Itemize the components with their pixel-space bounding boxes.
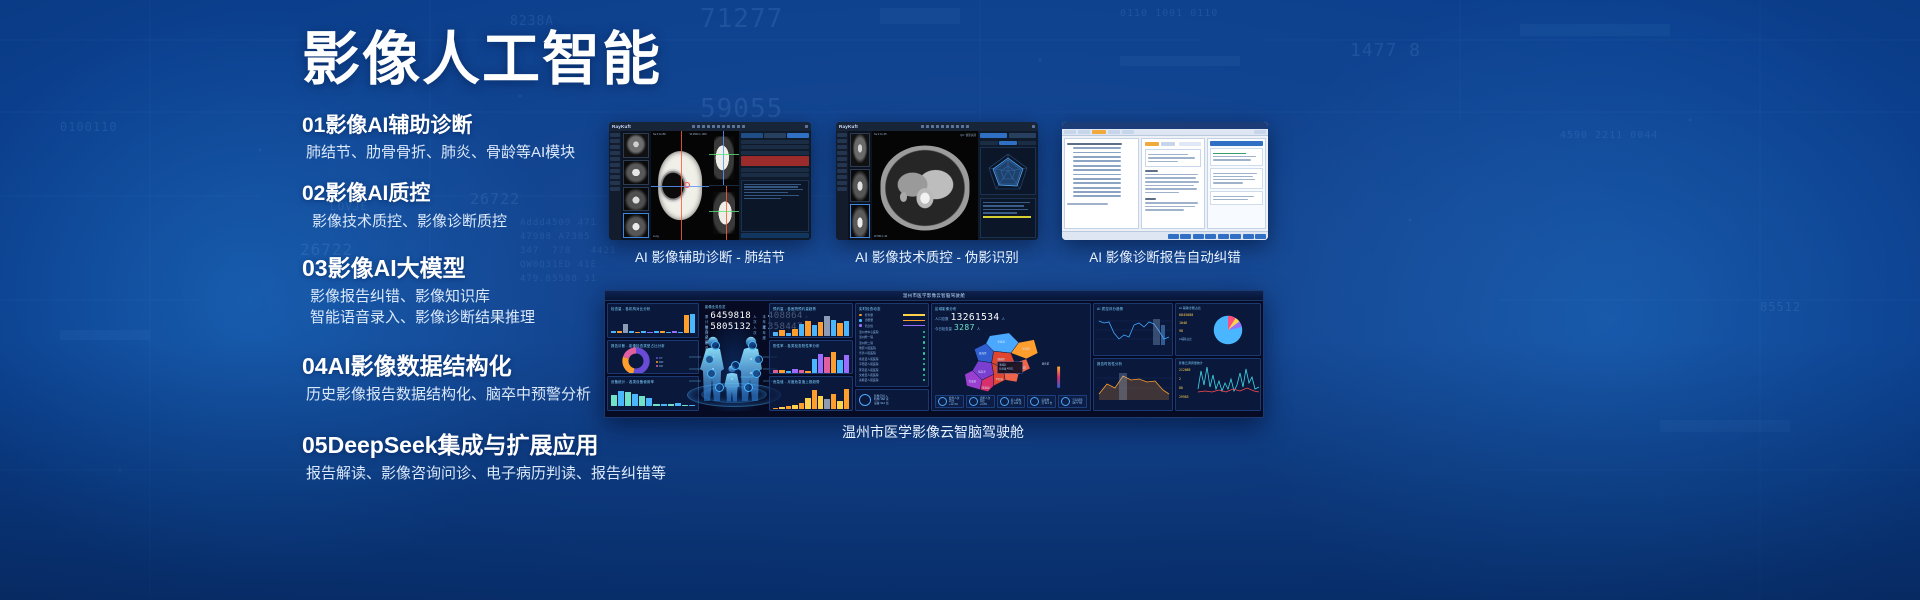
map-footer-buttons[interactable]: 检查人次同比 +12.4% 诊断人次同比 +9.8% 接入机构共 186 家 设… [935, 395, 1087, 408]
app-logo: RayKuft [839, 124, 858, 129]
app-titlebar [1062, 122, 1268, 129]
toolbar-icon[interactable] [697, 125, 700, 128]
svg-text:洞头区: 洞头区 [1042, 362, 1050, 366]
series-thumbnail[interactable] [850, 169, 870, 203]
card-title: AI 辅助诊断占比 [1179, 306, 1199, 310]
metric-value: 6459818 [710, 311, 751, 321]
tree-node[interactable] [1073, 195, 1121, 197]
svg-text:瑞安市: 瑞安市 [978, 369, 986, 373]
dashboard-center-overview[interactable]: 影像业务总览 累计检查总量 6459818 人次 本年度 408864 人次 累… [701, 303, 767, 411]
dashboard-card-cloud-access[interactable]: 影像云调阅量统计 2120BE 2 88 29983 [1175, 358, 1261, 411]
map-color-legend [1057, 367, 1060, 388]
series-thumbnail[interactable] [623, 160, 649, 185]
tool-icon[interactable] [837, 133, 847, 137]
toolbar-tabs[interactable] [1062, 129, 1268, 136]
tree-node[interactable] [1073, 191, 1121, 193]
tool-icon[interactable] [837, 163, 847, 167]
svg-text:平阳县: 平阳县 [996, 377, 1004, 381]
organ-node-icon[interactable] [748, 341, 757, 350]
toolbar-icon[interactable] [692, 125, 695, 128]
tool-icon[interactable] [610, 139, 620, 143]
bar-chart [773, 351, 849, 373]
card-title: 实时检查动态 [859, 306, 925, 311]
ct-secondary-views[interactable] [709, 131, 739, 240]
editor-tab-active[interactable] [1145, 142, 1159, 146]
metric-label: 人口总数 [935, 316, 949, 321]
tool-icon[interactable] [610, 157, 620, 161]
line-chart [1197, 361, 1261, 395]
patient-info-table [1145, 149, 1201, 167]
dashboard-card-region-map[interactable]: 区域影像分布 人口总数 13261534 人 今日检查量 3287 人 [931, 303, 1091, 411]
screenshot-imaging-cloud-cockpit[interactable]: 温州市医学影像云智脑驾驶舱 检查量 - 各机构对比分析 报告诊断 - 影像检查类… [604, 290, 1264, 418]
organ-node-icon[interactable] [707, 369, 716, 378]
action-bar[interactable] [1062, 231, 1268, 240]
action-button[interactable] [1193, 234, 1204, 239]
organ-node-icon[interactable] [705, 355, 714, 364]
tree-node[interactable] [1073, 169, 1121, 171]
screenshot-ai-technical-qc[interactable]: RayKuft Se:2 Im:45 QC: 伪影识别 W:350 L:40 [836, 122, 1038, 240]
card-title: AI 质控评分趋势 [1097, 306, 1169, 311]
metric-unit: 人 [1002, 316, 1005, 321]
bar-chart [773, 314, 849, 336]
tool-icon[interactable] [837, 169, 847, 173]
toolbar-icon[interactable] [717, 125, 720, 128]
tree-node[interactable] [1073, 147, 1121, 149]
emr-columns [1062, 136, 1268, 231]
submit-button[interactable] [741, 233, 809, 238]
dashboard-card-ai-ratio[interactable]: AI 辅助诊断占比 6845080 1046 98 AI辅助占比 [1175, 303, 1261, 356]
action-button[interactable] [1180, 234, 1191, 239]
report-text-area[interactable] [741, 180, 809, 232]
finding-row-critical[interactable] [741, 156, 809, 166]
ct-axial-view[interactable]: Se:3 Im:88 W:1500 L:-600 Lung [651, 131, 709, 240]
viewer-body: Se:3 Im:88 W:1500 L:-600 Lung [609, 131, 811, 240]
dashboard-card-qc-score-trend[interactable]: AI 质控评分趋势 [1093, 303, 1173, 356]
tool-icon[interactable] [610, 175, 620, 179]
filter-chip[interactable] [1018, 141, 1036, 145]
close-icon[interactable] [805, 125, 808, 128]
hospital-icon [859, 394, 871, 406]
report-editor-panel[interactable] [1141, 138, 1205, 229]
ai-suggestion-card[interactable] [1210, 191, 1263, 206]
ai-findings-panel[interactable] [739, 131, 811, 240]
footer-button[interactable]: 云存储量1877 TB [1058, 395, 1087, 408]
footer-button-sub: 共 912 台 [1041, 402, 1052, 405]
image-viewport-grid[interactable]: Se:3 Im:88 W:1500 L:-600 Lung [651, 131, 811, 240]
toolbar-icon[interactable] [712, 125, 715, 128]
toolbar-icon[interactable] [926, 125, 929, 128]
dashboard-card-summary-badge[interactable]: 影像云接入机构 186 家设备 912 台 [855, 389, 929, 411]
panel-tab[interactable] [741, 133, 763, 138]
editor-action[interactable] [1179, 142, 1201, 146]
tab-item[interactable] [1254, 130, 1266, 134]
dashboard-column-list: 实时检查动态 检查量 诊断量 危急值 温州市中心医院 温州附一院 温州附二院 瑞… [855, 303, 929, 411]
finding-row[interactable] [741, 168, 809, 172]
organ-node-icon[interactable] [754, 355, 763, 364]
action-button[interactable] [1205, 234, 1216, 239]
bar-chart [773, 387, 849, 409]
tool-icon[interactable] [610, 187, 620, 191]
tree-node[interactable] [1073, 187, 1121, 189]
tool-rail[interactable] [836, 131, 848, 240]
organ-node-icon[interactable] [711, 341, 720, 350]
report-tree-panel[interactable] [1064, 138, 1139, 229]
tree-node[interactable] [1073, 160, 1121, 162]
metric-population: 人口总数 13261534 人 [935, 312, 1087, 323]
toolbar-icon[interactable] [961, 125, 964, 128]
filter-chip[interactable] [980, 141, 998, 145]
donut-chart [619, 346, 653, 375]
tab-item-active[interactable] [1092, 130, 1106, 134]
svg-text:苍南县: 苍南县 [982, 386, 990, 390]
screenshot-2-caption: AI 影像技术质控 - 伪影识别 [836, 246, 1038, 266]
card-title: 影像云调阅量统计 [1179, 361, 1197, 365]
toolbar-icon[interactable] [956, 125, 959, 128]
footer-button-sub: 同比 +9.8% [980, 400, 992, 406]
tool-rail[interactable] [609, 131, 621, 240]
dashboard-column-lines: AI 质控评分趋势 报告时效性分析 [1093, 303, 1173, 411]
svg-text:文成县: 文成县 [969, 379, 977, 383]
toolbar-icon[interactable] [732, 125, 735, 128]
toolbar-icon[interactable] [951, 125, 954, 128]
card-title: 危急值 - 月度危急值上报趋势 [773, 379, 849, 384]
ct-axial-view[interactable]: Se:2 Im:45 QC: 伪影识别 W:350 L:40 [872, 131, 978, 240]
area-chart [1097, 368, 1171, 402]
action-button[interactable] [1255, 234, 1266, 239]
qc-radar-chart [980, 147, 1036, 195]
stat-icon [938, 397, 947, 406]
panel-tab-active[interactable] [787, 133, 809, 138]
tool-icon[interactable] [837, 151, 847, 155]
bar-chart [611, 313, 695, 333]
pie-chart [1208, 311, 1248, 349]
toolbar-icon[interactable] [941, 125, 944, 128]
metric-value: 5805132 [710, 322, 751, 332]
tool-icon[interactable] [610, 169, 620, 173]
dashboard-caption: 温州市医学影像云智脑驾驶舱 [604, 422, 1262, 442]
close-icon[interactable] [1032, 125, 1035, 128]
organ-node-icon[interactable] [731, 361, 740, 370]
app-titlebar: RayKuft [836, 122, 1038, 131]
tree-node[interactable] [1073, 174, 1121, 176]
organ-node-icon[interactable] [752, 369, 761, 378]
organ-node-icon[interactable] [744, 383, 753, 392]
filter-chip-active[interactable] [999, 141, 1017, 145]
screenshot-1-caption: AI 影像辅助诊断 - 肺结节 [609, 246, 811, 266]
ai-panel-header [1210, 141, 1263, 146]
series-thumbnail-list[interactable] [848, 131, 872, 240]
ct-sagittal-view[interactable] [709, 186, 739, 240]
tree-node[interactable] [1073, 152, 1121, 154]
panel-tab[interactable] [764, 133, 786, 138]
dashboard-card-report-timeliness[interactable]: 报告时效性分析 [1093, 358, 1173, 411]
toolbar-icon[interactable] [946, 125, 949, 128]
line-chart [1097, 313, 1171, 347]
editor-tab[interactable] [1161, 142, 1175, 146]
action-button[interactable] [1243, 234, 1254, 239]
tool-icon[interactable] [837, 175, 847, 179]
screenshot-ai-assisted-diagnosis[interactable]: RayKuft [609, 122, 811, 240]
tool-icon[interactable] [837, 157, 847, 161]
card-title: 区域影像分布 [935, 306, 1087, 311]
stat-icon [1061, 397, 1070, 406]
card-title: 预约量 - 各医院预约量趋势 [773, 306, 849, 311]
stat-icon [1030, 397, 1039, 406]
finding-row[interactable] [741, 173, 809, 177]
svg-text:乐清市: 乐清市 [1023, 346, 1031, 350]
ct-coronal-view[interactable] [709, 131, 739, 186]
page-title: 影像人工智能 [302, 30, 702, 91]
series-thumbnail[interactable] [850, 133, 870, 167]
footer-button-sub: 同比 +12.4% [949, 400, 961, 406]
dashboard-card-positive-rate[interactable]: 阳性率 - 各类检查阳性率分析 [769, 340, 853, 375]
svg-text:鹿城区: 鹿城区 [997, 357, 1005, 361]
card-title: 检查量 - 各机构对比分析 [611, 306, 695, 311]
series-thumbnail[interactable] [623, 133, 649, 158]
footer-button[interactable]: 设备数共 912 台 [1027, 395, 1056, 408]
series-thumbnail-selected[interactable] [850, 204, 870, 238]
tree-node[interactable] [1073, 182, 1121, 184]
svg-text:瓯海区: 瓯海区 [979, 351, 987, 355]
footer-button-sub: 共 186 家 [1011, 402, 1022, 405]
legend-block: 检查量 诊断量 危急值 [859, 313, 925, 328]
qc-score-panel[interactable] [978, 131, 1038, 240]
stat-icon [1000, 397, 1009, 406]
tool-icon[interactable] [610, 133, 620, 137]
card-title: 阳性率 - 各类检查阳性率分析 [773, 343, 849, 348]
panel-tab[interactable] [1009, 133, 1036, 138]
metric-value: 13261534 [951, 312, 1000, 323]
tree-node[interactable] [1073, 156, 1121, 158]
screenshot-3-caption: AI 影像诊断报告自动纠错 [1062, 246, 1268, 266]
tool-icon[interactable] [837, 145, 847, 149]
ai-suggestion-card[interactable] [1210, 148, 1263, 166]
tool-icon[interactable] [837, 181, 847, 185]
donut-legend: CT MR DR [656, 356, 663, 368]
organ-node-icon[interactable] [715, 383, 724, 392]
card-title: 报告诊断 - 影像检查类型占比分析 [611, 343, 665, 348]
footer-button[interactable]: 接入机构共 186 家 [997, 395, 1026, 408]
toolbar-icon[interactable] [921, 125, 924, 128]
tree-node[interactable] [1073, 165, 1121, 167]
feature-05-desc: 报告解读、影像咨询问诊、电子病历判读、报告纠错等 [302, 463, 702, 484]
action-button[interactable] [1218, 234, 1229, 239]
tab-item[interactable] [1064, 130, 1076, 134]
ai-suggestion-card[interactable] [1210, 168, 1263, 189]
qc-findings-list[interactable] [980, 198, 1036, 239]
stat-icon [969, 397, 978, 406]
radar-svg [982, 149, 1034, 193]
toolbar-icon[interactable] [702, 125, 705, 128]
tool-icon[interactable] [610, 145, 620, 149]
toolbar-icon[interactable] [936, 125, 939, 128]
tool-icon[interactable] [837, 139, 847, 143]
dashboard-header-title: 温州市医学影像云智脑驾驶舱 [605, 291, 1263, 301]
tab-item[interactable] [1108, 130, 1120, 134]
svg-text:永嘉县: 永嘉县 [997, 340, 1005, 344]
region-map-svg[interactable]: 永嘉县乐清市 瓯海区鹿城区 龙湾区瑞安市 平阳县文成县 苍南县洞头区 鹿城区检查… [935, 330, 1085, 395]
toolbar-icon[interactable] [966, 125, 969, 128]
toolbar-icon[interactable] [931, 125, 934, 128]
tree-node[interactable] [1073, 178, 1121, 180]
dashboard-card-appointments[interactable]: 预约量 - 各医院预约量趋势 [769, 303, 853, 338]
dashboard-card-critical-values[interactable]: 危急值 - 月度危急值上报趋势 [769, 376, 853, 411]
viewer-body: Se:2 Im:45 QC: 伪影识别 W:350 L:40 [836, 131, 1038, 240]
panel-tab-active[interactable] [980, 133, 1007, 138]
footer-button-sub: 1877 TB [1072, 402, 1082, 405]
action-button[interactable] [1168, 234, 1179, 239]
dashboard-card-realtime-list[interactable]: 实时检查动态 检查量 诊断量 危急值 温州市中心医院 温州附一院 温州附二院 瑞… [855, 303, 929, 387]
tab-item[interactable] [1122, 130, 1134, 134]
realtime-rows[interactable]: 温州市中心医院 温州附一院 温州附二院 瑞安人民医院 乐清人民医院 永嘉县人民医… [859, 330, 925, 383]
series-thumbnail-list[interactable] [621, 131, 651, 240]
series-thumbnail-selected[interactable] [623, 213, 649, 238]
finding-row[interactable] [741, 145, 809, 149]
dashboard-column-mid: 预约量 - 各医院预约量趋势 阳性率 - 各类检查阳性率分析 [769, 303, 853, 411]
finding-row[interactable] [741, 151, 809, 155]
toolbar-icon[interactable] [707, 125, 710, 128]
toolbar-icon[interactable] [742, 125, 745, 128]
dashboard-column-pie: AI 辅助诊断占比 6845080 1046 98 AI辅助占比 [1175, 303, 1261, 411]
toolbar-icon[interactable] [722, 125, 725, 128]
ai-correction-panel[interactable] [1207, 138, 1266, 229]
dashboard-body: 检查量 - 各机构对比分析 报告诊断 - 影像检查类型占比分析 [605, 301, 1263, 413]
screenshot-ai-report-autocorrect[interactable] [1062, 122, 1268, 240]
action-button[interactable] [1230, 234, 1241, 239]
series-thumbnail[interactable] [623, 187, 649, 212]
tool-icon[interactable] [610, 163, 620, 167]
toolbar-icon[interactable] [727, 125, 730, 128]
tool-icon[interactable] [610, 181, 620, 185]
tool-icon[interactable] [837, 187, 847, 191]
finding-row[interactable] [741, 140, 809, 144]
footer-button[interactable]: 诊断人次同比 +9.8% [966, 395, 995, 408]
toolbar-icon[interactable] [737, 125, 740, 128]
card-title: 报告时效性分析 [1097, 361, 1169, 366]
tab-item[interactable] [1078, 130, 1090, 134]
app-logo: RayKuft [612, 124, 631, 129]
center-panel-title: 影像业务总览 [705, 304, 725, 309]
app-titlebar: RayKuft [609, 122, 811, 131]
footer-button[interactable]: 检查人次同比 +12.4% [935, 395, 964, 408]
tool-icon[interactable] [610, 151, 620, 155]
